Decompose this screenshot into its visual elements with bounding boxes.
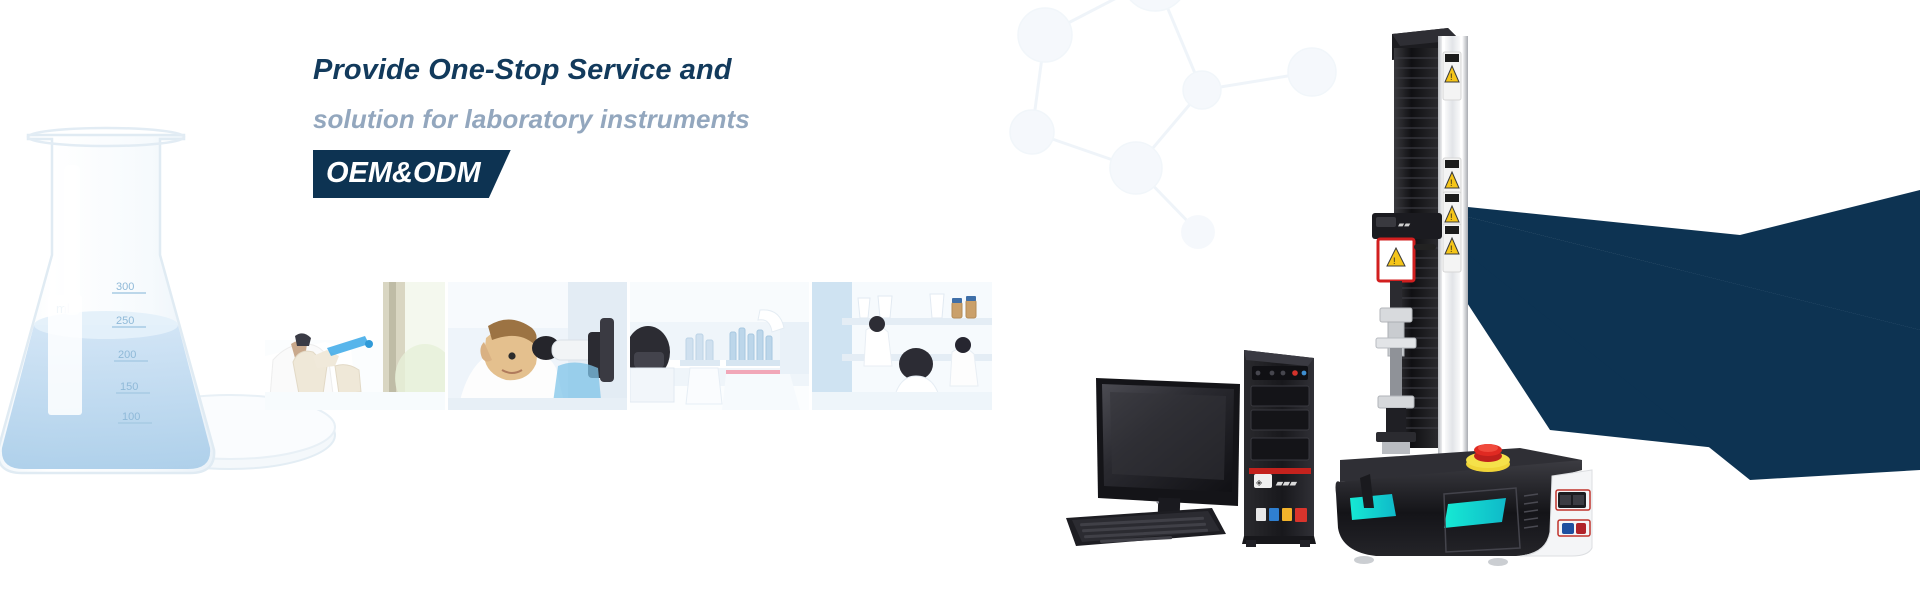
svg-text:200: 200 [118, 349, 136, 361]
light-arrow-triangle-2 [1640, 190, 1920, 420]
molecule-watermark-icon [940, 0, 1360, 250]
page-subtitle: solution for laboratory instruments [313, 106, 953, 132]
svg-text:100: 100 [122, 411, 140, 423]
photo-panel-technicians [812, 282, 992, 410]
machine-base [1336, 444, 1593, 566]
svg-text:▰▰: ▰▰ [1398, 220, 1411, 229]
svg-text:!: ! [1450, 178, 1453, 188]
keyboard [1066, 508, 1226, 546]
photo-panel-lab-bench [630, 282, 810, 410]
svg-text:◈: ◈ [1256, 478, 1263, 487]
svg-text:●: ● [1156, 500, 1160, 506]
warning-label-1: ! [1443, 52, 1461, 100]
pc-tower: ◈ ▰▰▰ [1242, 350, 1316, 547]
svg-text:!: ! [1450, 72, 1453, 82]
svg-text:250: 250 [116, 315, 134, 327]
light-arrow-triangle [1567, 190, 1920, 310]
svg-text:150: 150 [120, 381, 138, 393]
svg-text:!: ! [1450, 212, 1453, 222]
svg-text:▰▰▰: ▰▰▰ [1275, 478, 1298, 488]
warning-label-4: ! [1443, 224, 1461, 272]
lcd-monitor: ● [1096, 378, 1240, 528]
emergency-stop-button [1466, 444, 1510, 472]
oem-odm-badge: OEM&ODM [313, 150, 511, 198]
photo-panel-microscope [448, 282, 627, 410]
hero-banner: 300 250 200 150 100 ml Provide One-Stop … [0, 0, 1920, 597]
headline-block: Provide One-Stop Service and solution fo… [313, 56, 953, 198]
flask-liquid [2, 325, 210, 469]
svg-text:!: ! [1450, 244, 1453, 254]
photo-strip [265, 282, 992, 410]
page-title: Provide One-Stop Service and [313, 56, 953, 85]
desktop-computer-illustration: ● [1040, 340, 1330, 550]
svg-text:300: 300 [116, 281, 134, 293]
tensile-testing-machine-illustration: ! ! ! ! [1320, 8, 1610, 583]
svg-text:!: ! [1393, 256, 1396, 266]
photo-panel-pipetting [265, 282, 445, 410]
